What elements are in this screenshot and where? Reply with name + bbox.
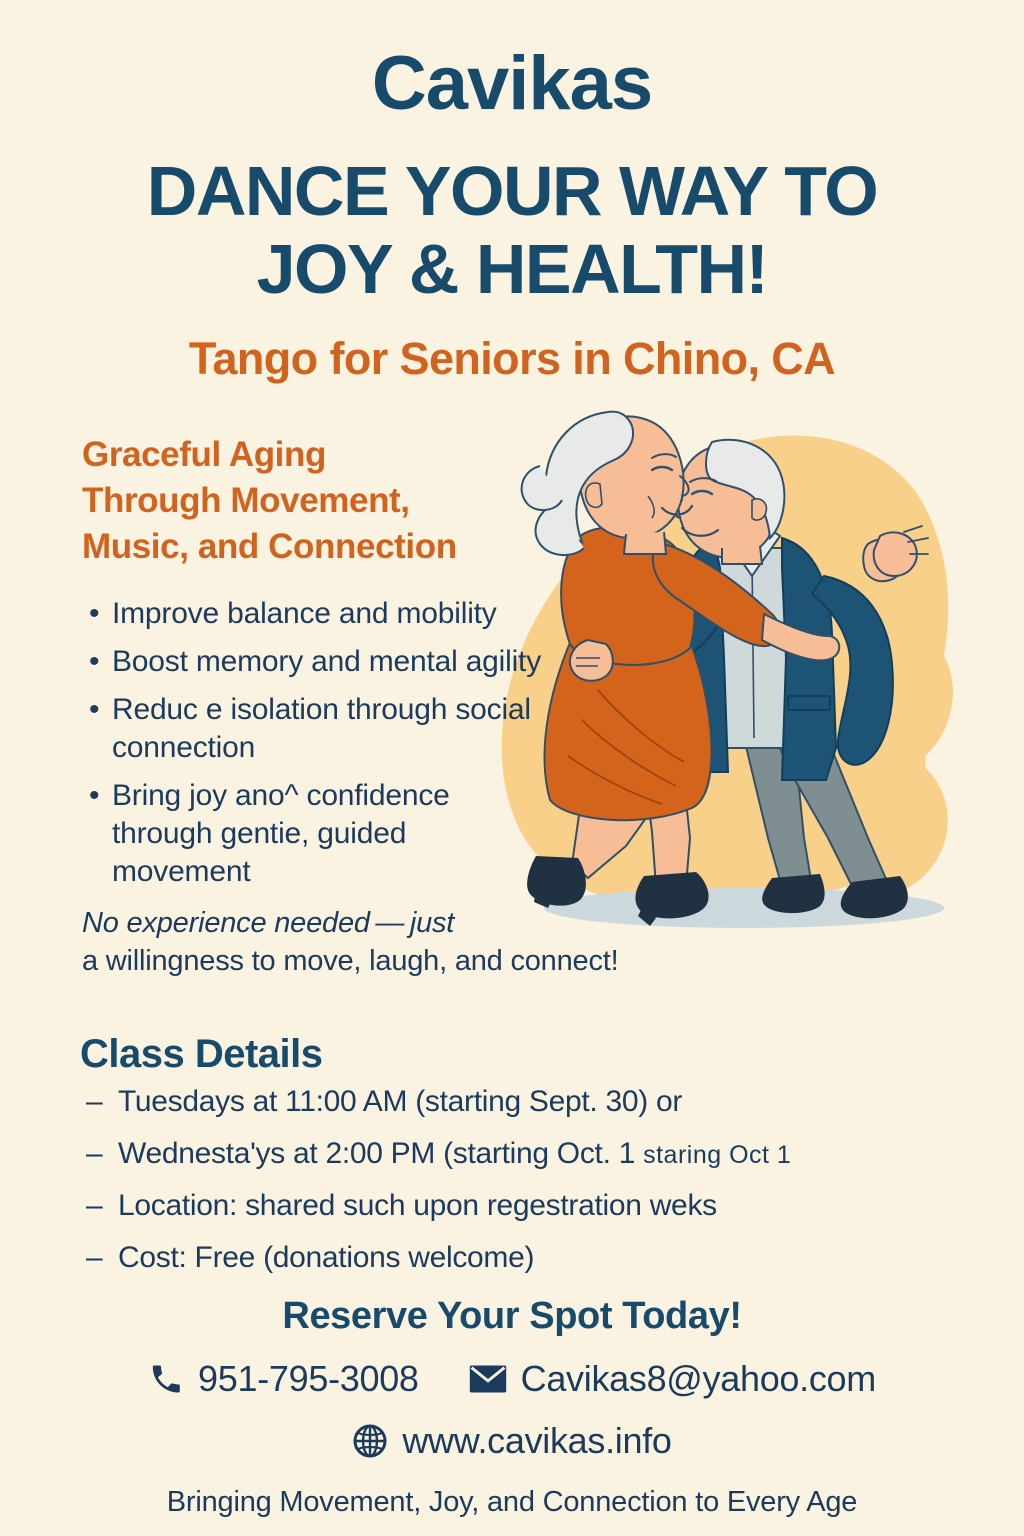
- globe-icon: [352, 1423, 388, 1459]
- tagline-line-1: Graceful Aging: [82, 432, 552, 478]
- headline-line-1: DANCE YOUR WAY TO: [147, 152, 877, 230]
- envelope-icon: [469, 1364, 507, 1394]
- list-item: • Bring joy ano^ confidence through gent…: [82, 777, 552, 891]
- class-details-heading: Class Details: [80, 1032, 960, 1077]
- no-experience-note: No experience needed — just a willingnes…: [82, 905, 712, 980]
- phone-contact[interactable]: 951-795-3008: [148, 1358, 419, 1400]
- list-item-label: Improve balance and mobility: [112, 597, 497, 630]
- phone-icon: [148, 1361, 184, 1397]
- list-item: – Location: shared such upon regestratio…: [80, 1191, 960, 1221]
- list-item: – Wednesta'ys at 2:00 PM (starting Oct. …: [80, 1139, 960, 1169]
- phone-number: 951-795-3008: [198, 1358, 419, 1400]
- list-item-suffix: staring Oct 1: [643, 1141, 791, 1169]
- dash-icon: –: [86, 1243, 102, 1273]
- tagline-line-2: Through Movement,: [82, 478, 552, 524]
- bullet-icon: •: [89, 643, 99, 681]
- email-contact[interactable]: Cavikas8@yahoo.com: [469, 1358, 876, 1400]
- email-address: Cavikas8@yahoo.com: [521, 1358, 876, 1400]
- poster-canvas: Cavikas DANCE YOUR WAY TO JOY & HEALTH! …: [0, 0, 1024, 1536]
- list-item-label: Bring joy ano^ confidence through gentie…: [112, 779, 450, 888]
- benefits-section: Graceful Aging Through Movement, Music, …: [82, 432, 552, 981]
- list-item-label: Reduc e isolation through social connect…: [112, 693, 531, 764]
- note-plain-line: a willingness to move, laugh, and connec…: [82, 943, 712, 981]
- list-item: • Reduc e isolation through social conne…: [82, 691, 552, 767]
- class-details-section: Class Details – Tuesdays at 11:00 AM (st…: [80, 1032, 960, 1295]
- bullet-icon: •: [89, 777, 99, 815]
- cta-heading: Reserve Your Spot Today!: [0, 1295, 1024, 1338]
- list-item-label: Cost: Free (donations welcome): [118, 1241, 534, 1274]
- tagline-line-3: Music, and Connection: [82, 524, 552, 570]
- list-item-label: Wednesta'ys at 2:00 PM (starting Oct. 1: [118, 1137, 635, 1170]
- subheading: Tango for Seniors in Chino, CA: [0, 334, 1024, 384]
- list-item: • Boost memory and mental agility: [82, 643, 552, 681]
- dash-icon: –: [86, 1139, 102, 1169]
- footer-tagline: Bringing Movement, Joy, and Connection t…: [0, 1486, 1024, 1519]
- note-italic-line: No experience needed — just: [82, 905, 712, 943]
- list-item-label: Boost memory and mental agility: [112, 645, 541, 678]
- dash-icon: –: [86, 1087, 102, 1117]
- list-item: – Tuesdays at 11:00 AM (starting Sept. 3…: [80, 1087, 960, 1117]
- list-item-label: Location: shared such upon regestration …: [118, 1189, 717, 1222]
- headline-line-2: JOY & HEALTH!: [0, 230, 1024, 308]
- bullet-icon: •: [89, 595, 99, 633]
- bullet-icon: •: [89, 691, 99, 729]
- brand-title: Cavikas: [0, 46, 1024, 122]
- benefits-list: • Improve balance and mobility • Boost m…: [82, 595, 552, 892]
- website-row[interactable]: www.cavikas.info: [0, 1420, 1024, 1462]
- dash-icon: –: [86, 1191, 102, 1221]
- tagline: Graceful Aging Through Movement, Music, …: [82, 432, 552, 571]
- list-item-label: Tuesdays at 11:00 AM (starting Sept. 30)…: [118, 1085, 682, 1118]
- list-item: • Improve balance and mobility: [82, 595, 552, 633]
- list-item: – Cost: Free (donations welcome): [80, 1243, 960, 1273]
- website-url: www.cavikas.info: [402, 1420, 671, 1462]
- class-details-list: – Tuesdays at 11:00 AM (starting Sept. 3…: [80, 1087, 960, 1273]
- page-title: DANCE YOUR WAY TO JOY & HEALTH!: [0, 152, 1024, 309]
- contact-row: 951-795-3008 Cavikas8@yahoo.com: [0, 1358, 1024, 1400]
